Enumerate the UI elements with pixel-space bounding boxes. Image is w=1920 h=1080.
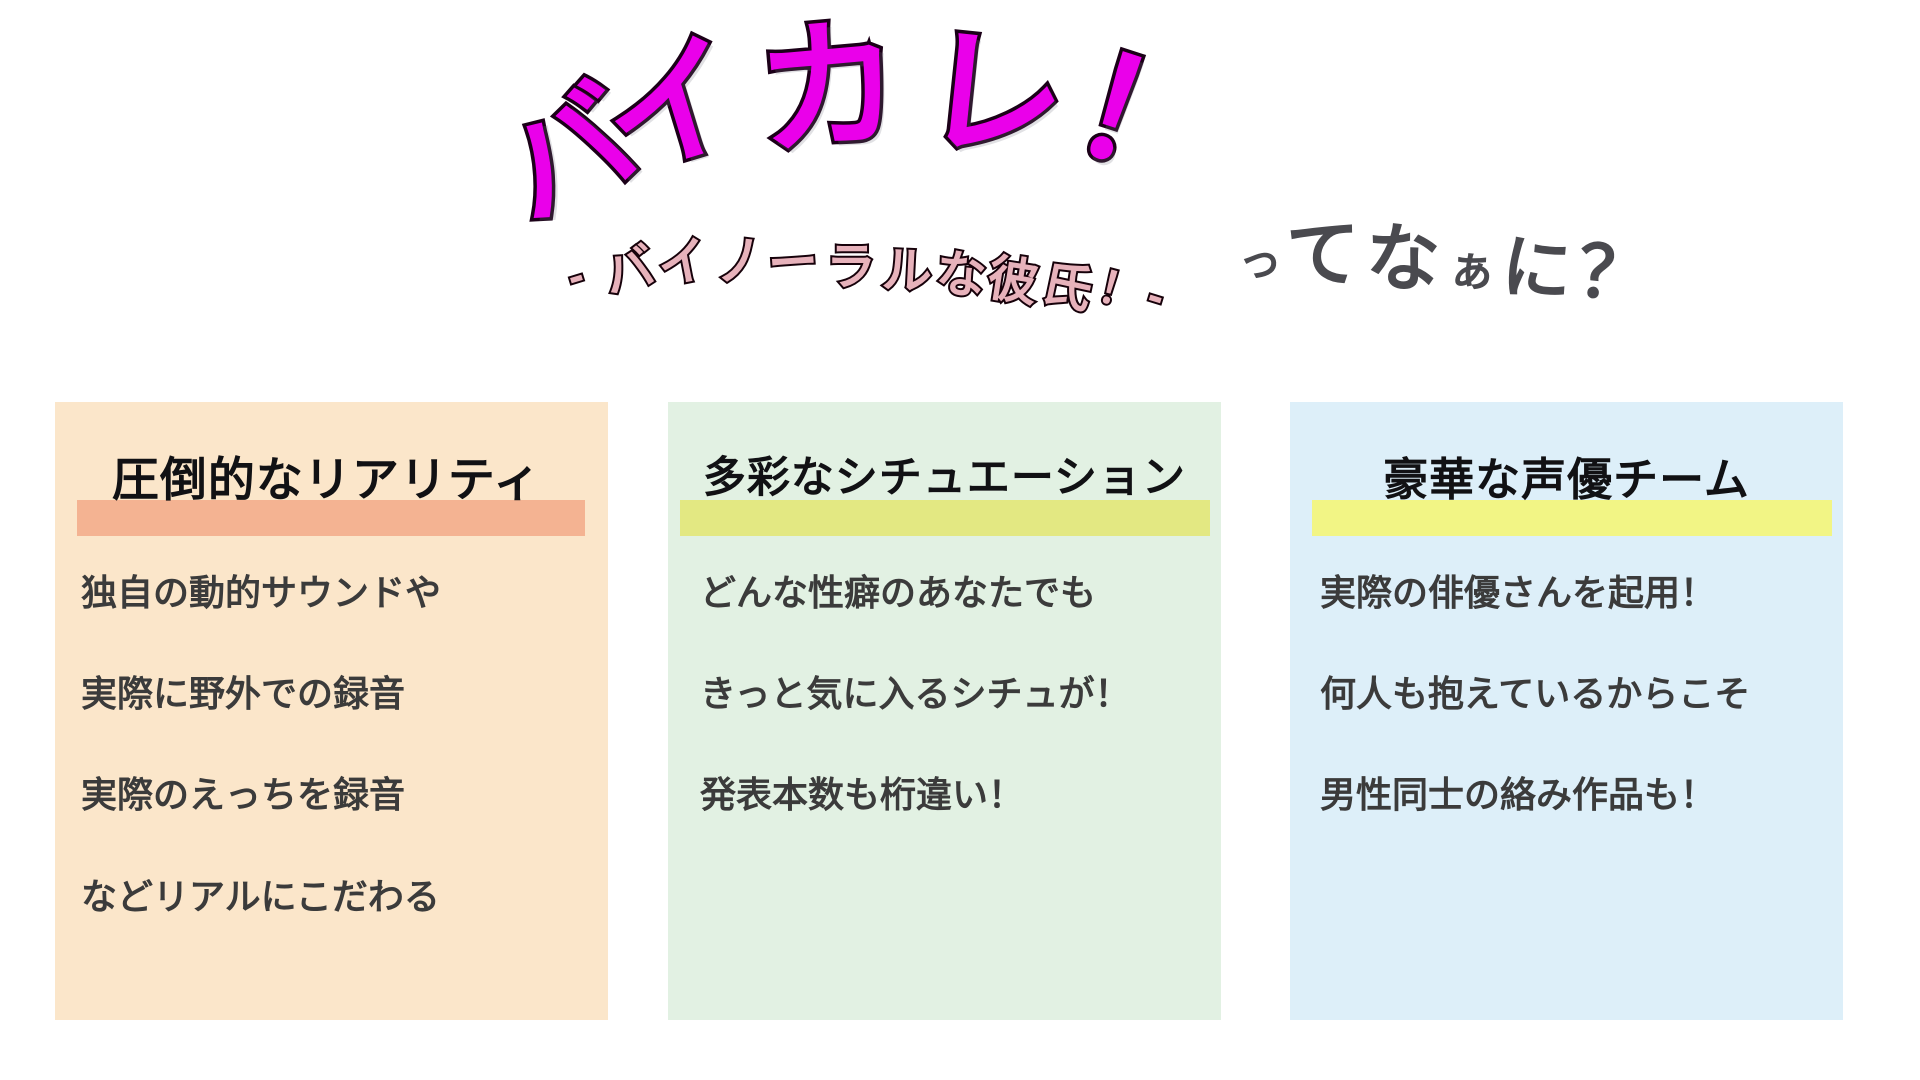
card-heading-wrap: 豪華な声優チーム	[1290, 456, 1843, 536]
tail-text-char: ？	[1574, 234, 1653, 313]
sub-title-char: バ	[598, 240, 659, 301]
sub-title-char: な	[934, 248, 989, 303]
feature-card-voice-cast: 豪華な声優チーム 実際の俳優さんを起用！ 何人も抱えているからこそ 男性同士の絡…	[1290, 402, 1843, 1020]
card-heading-wrap: 多彩なシチュエーション	[668, 456, 1221, 536]
heading-highlight-bar	[680, 500, 1210, 536]
feature-card-reality: 圧倒的なリアリティ 独自の動的サウンドや 実際に野外での録音 実際のえっちを録音…	[55, 402, 608, 1020]
tail-text-char: っ	[1237, 239, 1284, 286]
sub-title: - バ イ ノ ー ラ ル な 彼 氏 ！ -	[568, 236, 1208, 326]
tail-text-char: な	[1365, 221, 1442, 298]
tail-question-text: っ て な ぁ に ？	[1238, 216, 1658, 326]
sub-title-char: ー	[766, 236, 819, 289]
main-title-char: ！	[1059, 34, 1235, 210]
card-line: どんな性癖のあなたでも	[668, 572, 1221, 615]
card-line: などリアルにこだわる	[55, 876, 608, 919]
sub-title-char: イ	[654, 234, 713, 293]
main-title: バ イ カ レ ！	[505, 18, 1365, 248]
card-heading-wrap: 圧倒的なリアリティ	[55, 456, 608, 536]
header-section: バ イ カ レ ！ - バ イ ノ ー ラ ル な 彼 氏 ！ - っ て な …	[0, 0, 1920, 380]
card-body: 実際の俳優さんを起用！ 何人も抱えているからこそ 男性同士の絡み作品も！	[1290, 572, 1843, 876]
card-line: 発表本数も桁違い！	[668, 774, 1221, 817]
sub-title-char: ノ	[711, 233, 767, 289]
tail-text-char: ぁ	[1446, 244, 1497, 295]
sub-title-char: ラ	[826, 242, 876, 292]
card-heading: 豪華な声優チーム	[1290, 456, 1843, 503]
sub-title-char: ！	[1093, 265, 1147, 319]
feature-card-situations: 多彩なシチュエーション どんな性癖のあなたでも きっと気に入るシチュが！ 発表本…	[668, 402, 1221, 1020]
card-line: 実際の俳優さんを起用！	[1290, 572, 1843, 615]
sub-title-char: -	[563, 257, 589, 298]
card-line: 実際のえっちを録音	[55, 774, 608, 817]
card-line: 独自の動的サウンドや	[55, 572, 608, 615]
card-line: 実際に野外での録音	[55, 673, 608, 716]
card-line: 男性同士の絡み作品も！	[1290, 774, 1843, 817]
sub-title-char: ル	[881, 245, 934, 298]
sub-title-char: -	[1143, 277, 1169, 318]
card-line: 何人も抱えているからこそ	[1290, 673, 1843, 716]
feature-cards: 圧倒的なリアリティ 独自の動的サウンドや 実際に野外での録音 実際のえっちを録音…	[0, 402, 1920, 1022]
card-line: きっと気に入るシチュが！	[668, 673, 1221, 716]
tail-text-char: に	[1499, 231, 1575, 307]
card-heading: 多彩なシチュエーション	[668, 456, 1221, 501]
sub-title-char: 彼	[984, 252, 1041, 309]
main-title-char: レ	[916, 19, 1072, 175]
main-title-char: カ	[751, 10, 907, 166]
card-body: どんな性癖のあなたでも きっと気に入るシチュが！ 発表本数も桁違い！	[668, 572, 1221, 876]
sub-title-char: 氏	[1037, 257, 1096, 316]
card-body: 独自の動的サウンドや 実際に野外での録音 実際のえっちを録音 などリアルにこだわ…	[55, 572, 608, 977]
tail-text-char: て	[1285, 217, 1360, 292]
card-heading: 圧倒的なリアリティ	[50, 456, 603, 505]
